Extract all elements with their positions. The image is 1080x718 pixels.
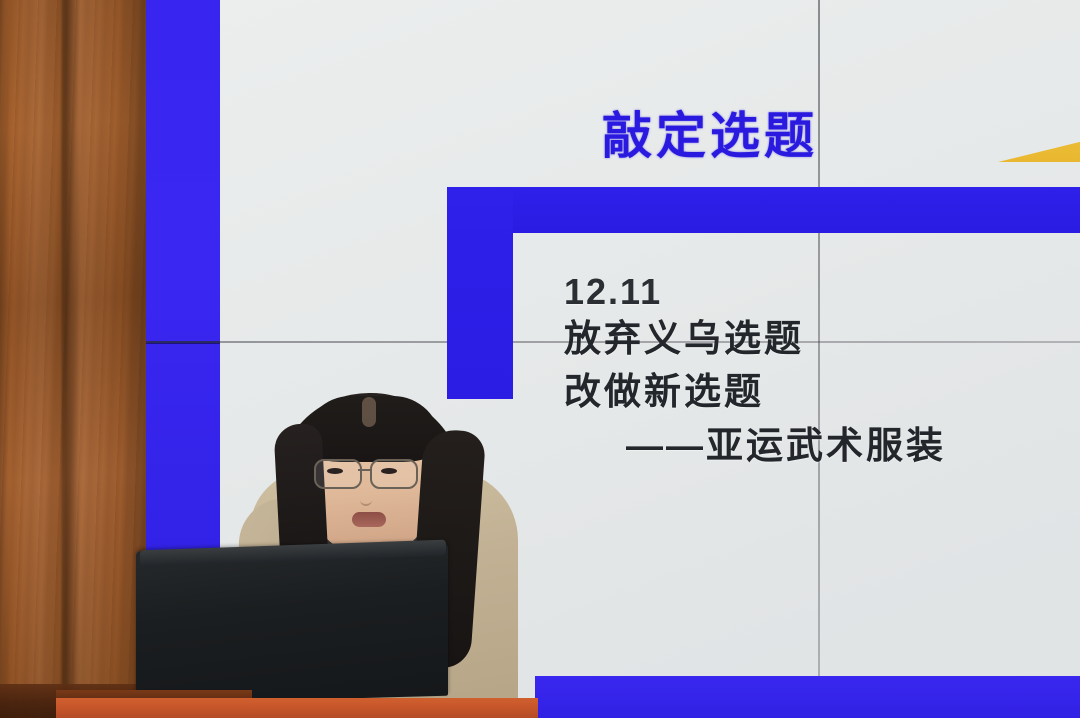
eye-right [381, 468, 397, 474]
computer-monitor [136, 543, 448, 705]
glasses-lens-right [370, 459, 418, 489]
screenshot-root: 敲定选题 12.11 放弃义乌选题 改做新选题 ——亚运武术服装 [0, 0, 1080, 718]
glasses-lens-left [314, 459, 362, 489]
nose [360, 488, 372, 506]
podium [56, 698, 538, 718]
eye-left [327, 468, 343, 474]
mouth [352, 512, 386, 527]
hair-part [362, 397, 376, 427]
